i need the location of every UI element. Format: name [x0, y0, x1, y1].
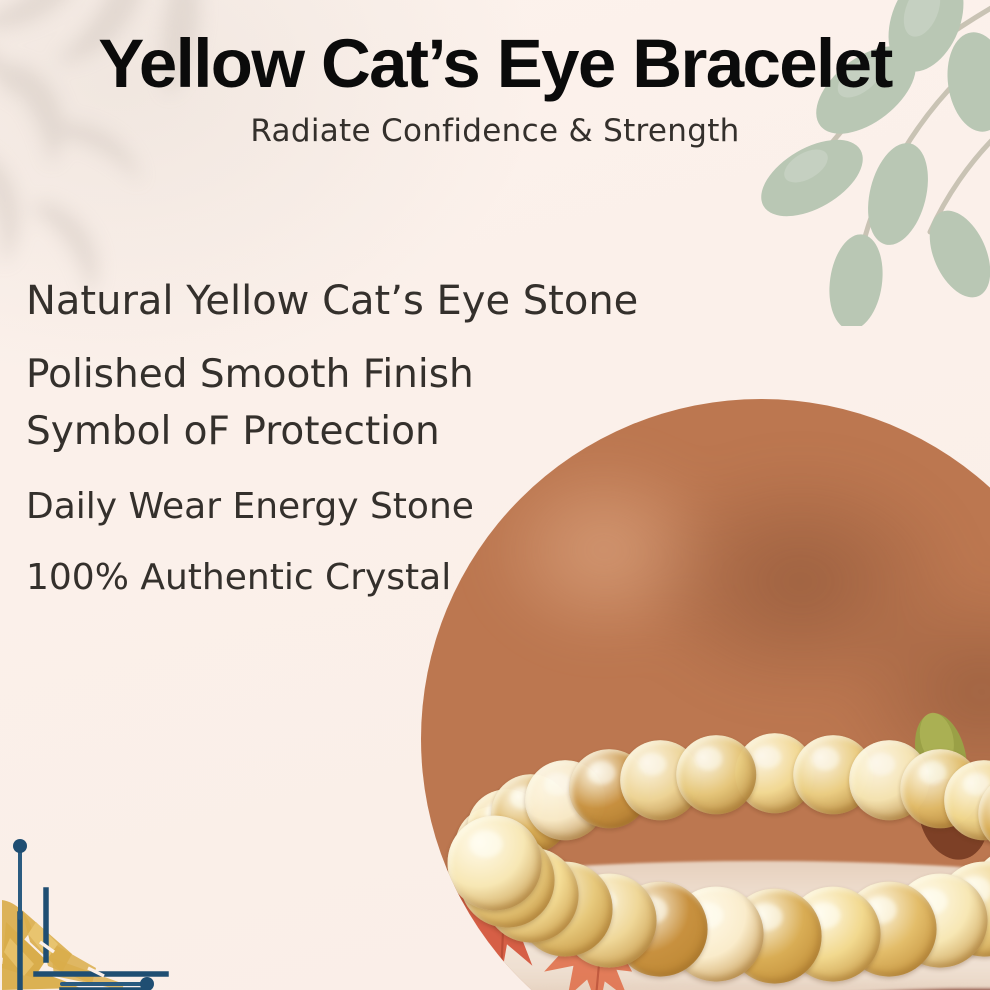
feature-item: 100% Authentic Crystal: [26, 557, 666, 598]
bracelet-bead: [447, 816, 542, 911]
feature-item: Symbol oF Protection: [26, 409, 666, 454]
bracelet-beads: [469, 753, 990, 957]
feature-item: Polished Smooth Finish: [26, 352, 666, 397]
feature-item: Daily Wear Energy Stone: [26, 486, 666, 527]
art-deco-corner-icon: [0, 818, 178, 990]
page-title: Yellow Cat’s Eye Bracelet: [0, 28, 990, 100]
bracelet-bead: [676, 735, 756, 815]
page-subtitle: Radiate Confidence & Strength: [0, 113, 990, 149]
feature-list: Natural Yellow Cat’s Eye Stone Polished …: [26, 278, 666, 598]
product-poster: Yellow Cat’s Eye Bracelet Radiate Confid…: [0, 0, 990, 990]
ornament-dot-top: [13, 839, 27, 853]
ornament-dot-right: [140, 977, 154, 990]
feature-item: Natural Yellow Cat’s Eye Stone: [26, 278, 666, 324]
